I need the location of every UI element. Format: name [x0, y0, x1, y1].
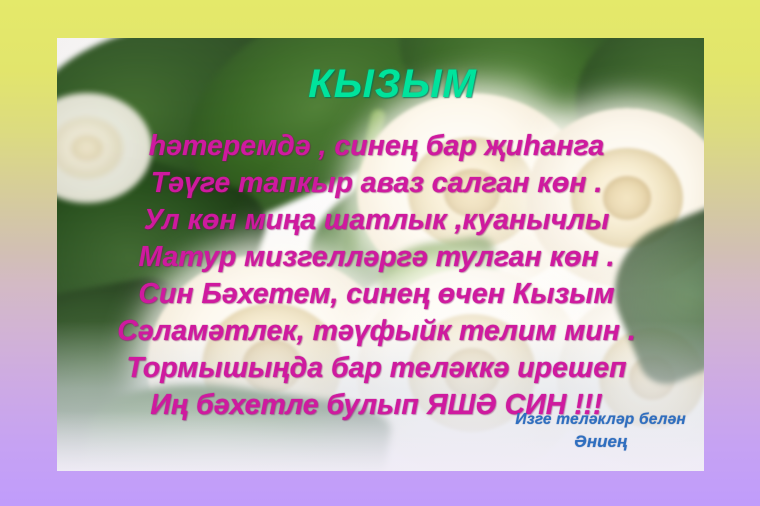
signature-block: Изге теләкләр белән Әниең: [515, 409, 686, 453]
verse-line: һәтеремдә , синең бар җиһанга: [57, 128, 696, 165]
verse-line: Тормышыңда бар теләккә ирешеп: [57, 350, 696, 387]
text-layer: КЫЗЫМ һәтеремдә , синең бар җиһанга Тәүг…: [57, 38, 704, 471]
verse-line: Ул көн миңа шатлык ,куанычлы: [57, 202, 696, 239]
signature-wish: Изге теләкләр белән: [515, 409, 686, 430]
page-title: КЫЗЫМ: [57, 62, 704, 107]
greeting-card-frame: КЫЗЫМ һәтеремдә , синең бар җиһанга Тәүг…: [0, 0, 760, 506]
verse-block: һәтеремдә , синең бар җиһанга Тәүге тапк…: [57, 128, 704, 424]
signature-author: Әниең: [515, 430, 686, 453]
verse-line: Матур мизгелләргә тулган көн .: [57, 239, 696, 276]
verse-line: Тәүге тапкыр аваз салган көн .: [57, 165, 696, 202]
rose-photo: КЫЗЫМ һәтеремдә , синең бар җиһанга Тәүг…: [57, 38, 704, 471]
verse-line: Сәламәтлек, тәүфыйк телим мин .: [57, 313, 696, 350]
verse-line: Син Бәхетем, синең өчен Кызым: [57, 276, 696, 313]
